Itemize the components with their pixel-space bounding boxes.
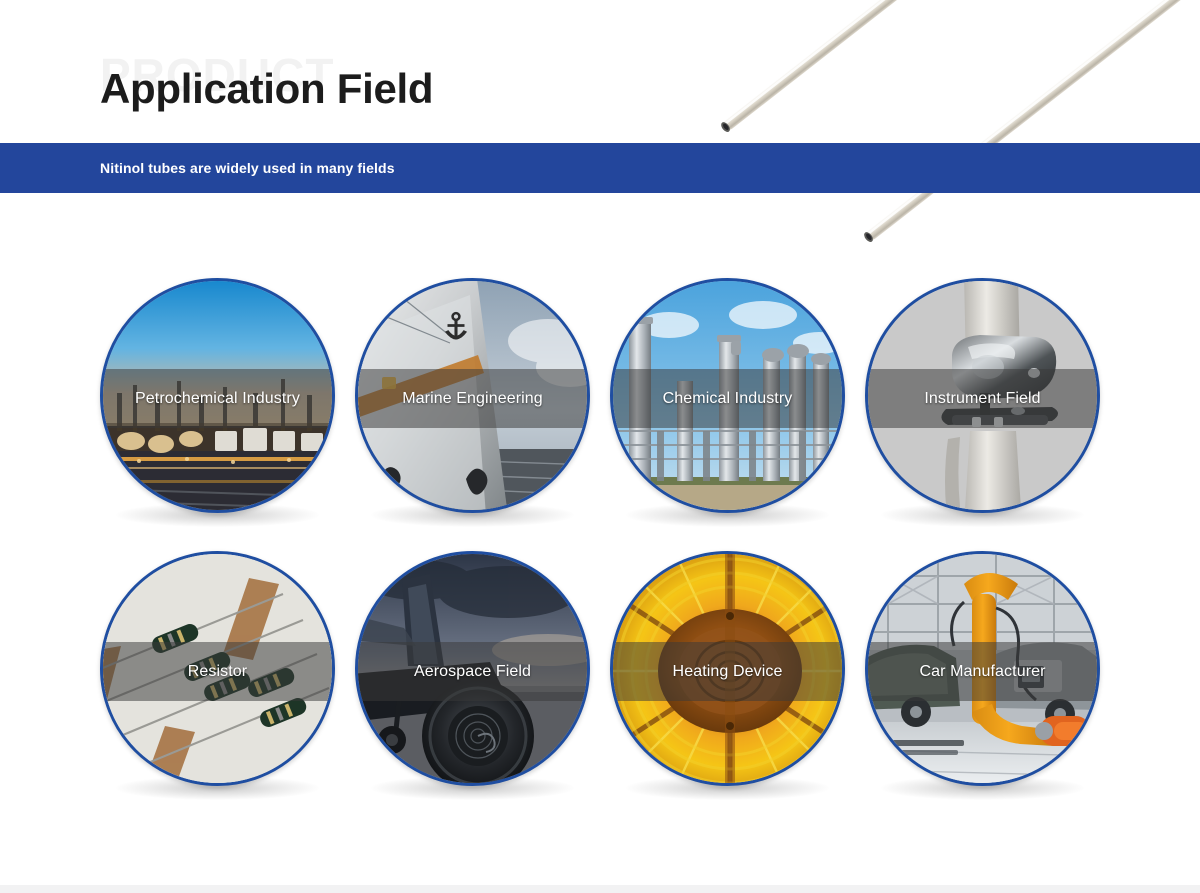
bottom-strip — [0, 885, 1200, 893]
card-disc[interactable]: Resistor — [100, 551, 335, 786]
card-label-band: Petrochemical Industry — [103, 369, 332, 428]
card-label: Chemical Industry — [663, 390, 793, 408]
application-card[interactable]: Aerospace Field — [355, 551, 590, 786]
application-card[interactable]: Instrument Field — [865, 278, 1100, 513]
card-label-band: Marine Engineering — [358, 369, 587, 428]
application-card-grid: Petrochemical Industry — [100, 278, 1100, 786]
card-disc[interactable]: Heating Device — [610, 551, 845, 786]
card-disc[interactable]: Instrument Field — [865, 278, 1100, 513]
application-card[interactable]: Marine Engineering — [355, 278, 590, 513]
card-label: Instrument Field — [924, 390, 1040, 408]
card-label: Petrochemical Industry — [135, 390, 300, 408]
card-label: Car Manufacturer — [919, 663, 1045, 681]
application-card[interactable]: Car Manufacturer — [865, 551, 1100, 786]
page-header: PRODUCT Application Field — [0, 0, 1200, 143]
application-card[interactable]: Petrochemical Industry — [100, 278, 335, 513]
card-label: Resistor — [188, 663, 247, 681]
card-row: Resistor — [100, 551, 1100, 786]
card-label: Heating Device — [673, 663, 783, 681]
application-card[interactable]: Resistor — [100, 551, 335, 786]
card-label: Aerospace Field — [414, 663, 531, 681]
card-label-band: Aerospace Field — [358, 642, 587, 701]
card-label: Marine Engineering — [402, 390, 543, 408]
card-label-band: Instrument Field — [868, 369, 1097, 428]
card-disc[interactable]: Chemical Industry — [610, 278, 845, 513]
card-disc[interactable]: Car Manufacturer — [865, 551, 1100, 786]
application-field-page: PRODUCT Application Field Nitinol tubes … — [0, 0, 1200, 893]
card-label-band: Resistor — [103, 642, 332, 701]
card-disc[interactable]: Aerospace Field — [355, 551, 590, 786]
card-label-band: Chemical Industry — [613, 369, 842, 428]
card-label-band: Heating Device — [613, 642, 842, 701]
subtitle-banner: Nitinol tubes are widely used in many fi… — [0, 143, 1200, 193]
application-card[interactable]: Chemical Industry — [610, 278, 845, 513]
card-label-band: Car Manufacturer — [868, 642, 1097, 701]
page-title: Application Field — [100, 68, 433, 110]
application-card[interactable]: Heating Device — [610, 551, 845, 786]
card-disc[interactable]: Marine Engineering — [355, 278, 590, 513]
card-disc[interactable]: Petrochemical Industry — [100, 278, 335, 513]
banner-text: Nitinol tubes are widely used in many fi… — [100, 160, 395, 176]
card-row: Petrochemical Industry — [100, 278, 1100, 513]
